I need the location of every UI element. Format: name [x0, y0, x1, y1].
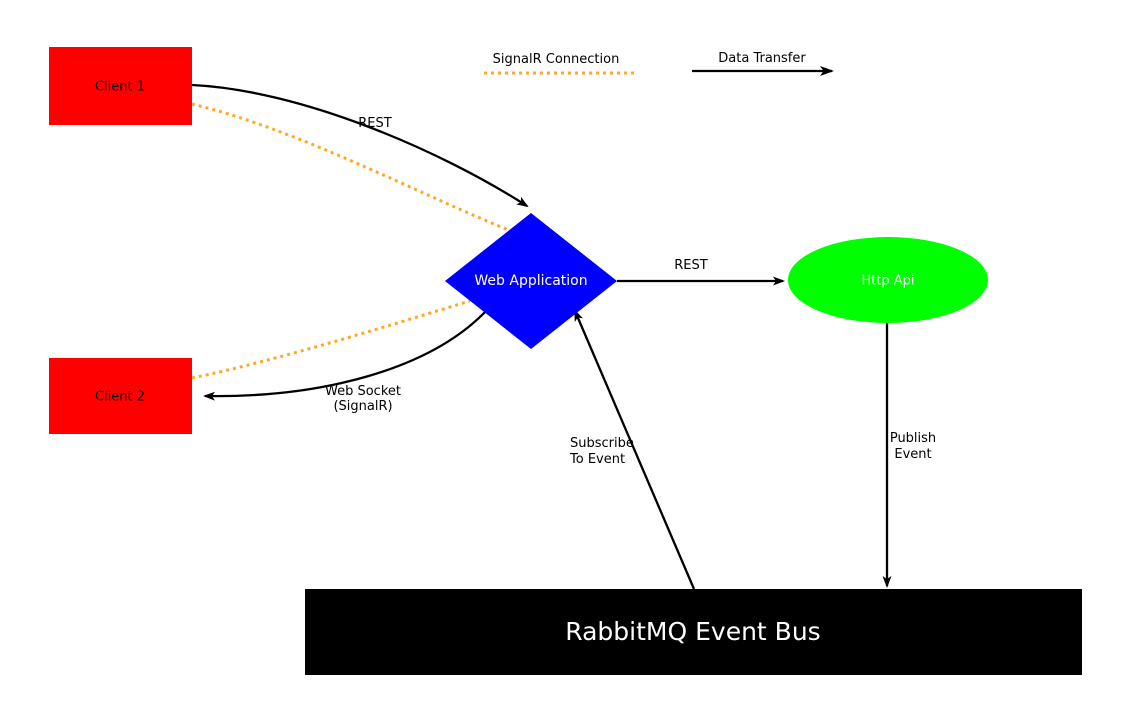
edge-label-publish-line2: Event: [894, 447, 931, 462]
http-api-label: Http Api: [861, 274, 914, 289]
node-rabbitmq-event-bus[interactable]: RabbitMQ Event Bus: [305, 589, 1082, 675]
rabbitmq-event-bus-label: RabbitMQ Event Bus: [565, 617, 820, 646]
edge-label-subscribe-line2: To Event: [569, 452, 625, 467]
edge-label-websocket-line2: (SignalR): [333, 399, 392, 414]
node-web-application[interactable]: Web Application: [445, 213, 617, 349]
diagram-svg-layer: SignalR Connection Data Transfer: [0, 0, 1139, 709]
legend-label-data-transfer: Data Transfer: [718, 51, 806, 66]
client-1-label: Client 1: [95, 80, 145, 95]
edge-client1-to-webapp-rest: [192, 85, 527, 206]
node-client-2[interactable]: Client 2: [49, 358, 192, 434]
architecture-diagram: SignalR Connection Data Transfer: [0, 0, 1139, 709]
edge-label-websocket-line1: Web Socket: [325, 384, 401, 399]
edge-label-subscribe-line1: Subscribe: [570, 436, 634, 451]
edge-client1-signalr-dotted: [192, 104, 516, 233]
legend-label-signalr-connection: SignalR Connection: [493, 52, 620, 67]
node-client-1[interactable]: Client 1: [49, 47, 192, 125]
nodes-group: Client 1 Client 2 Web Application Http A…: [49, 47, 1082, 675]
node-http-api[interactable]: Http Api: [788, 237, 988, 323]
edge-label-publish-line1: Publish: [890, 431, 936, 446]
edge-label-webapp-httpapi-rest: REST: [674, 258, 707, 273]
legend: SignalR Connection Data Transfer: [484, 51, 832, 73]
edge-client2-signalr-dotted: [192, 301, 470, 378]
edge-label-client1-rest: REST: [358, 116, 391, 131]
web-application-label: Web Application: [474, 273, 587, 289]
client-2-label: Client 2: [95, 390, 145, 405]
